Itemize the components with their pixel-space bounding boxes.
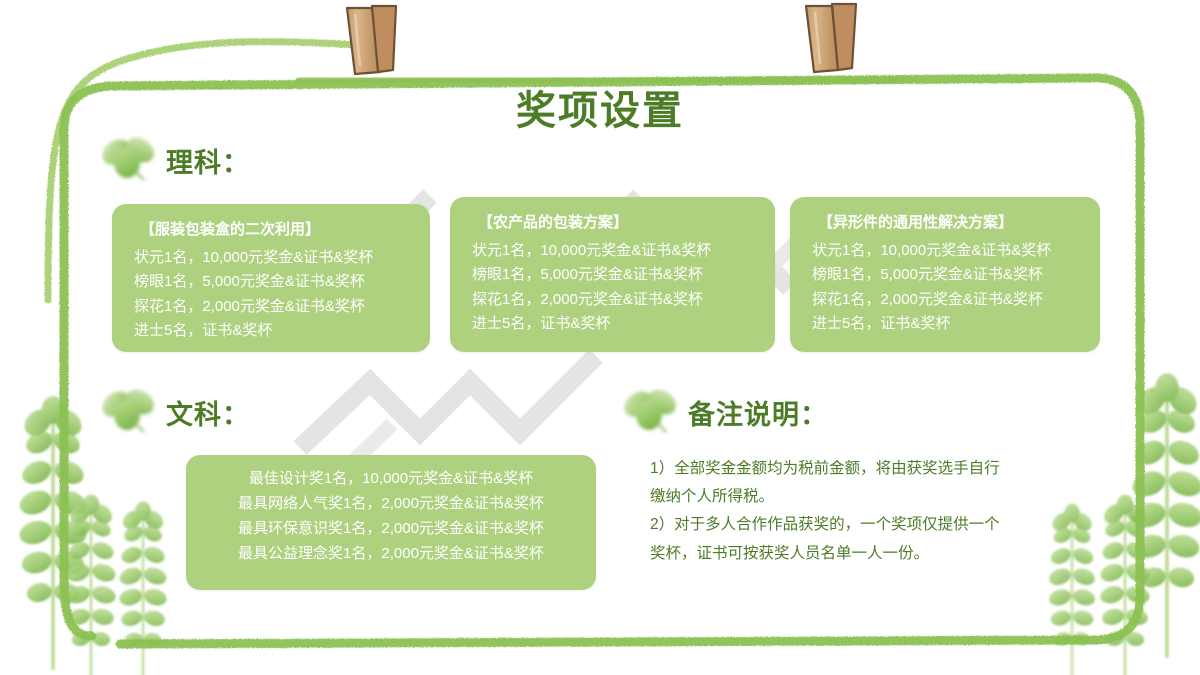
leaf-icon <box>100 136 158 184</box>
card-line: 最具环保意识奖1名，2,000元奖金&证书&奖杯 <box>202 517 580 542</box>
card-line: 进士5名，证书&奖杯 <box>134 319 414 343</box>
notes-block: 1）全部奖金金额均为税前金额，将由获奖选手自行 缴纳个人所得税。 2）对于多人合… <box>650 455 1075 568</box>
leaf-icon <box>622 388 680 436</box>
card-line: 状元1名，10,000元奖金&证书&奖杯 <box>472 239 759 263</box>
card-title: 【农产品的包装方案】 <box>478 211 759 232</box>
leaf-icon <box>100 388 158 436</box>
award-card-irregular-parts: 【异形件的通用性解决方案】 状元1名，10,000元奖金&证书&奖杯 榜眼1名，… <box>790 197 1100 352</box>
section-label-notes: 备注说明： <box>688 393 828 432</box>
card-line: 状元1名，10,000元奖金&证书&奖杯 <box>812 239 1084 263</box>
card-line: 最具网络人气奖1名，2,000元奖金&证书&奖杯 <box>202 492 580 517</box>
section-heading-notes: 备注说明： <box>622 388 828 436</box>
card-line: 探花1名，2,000元奖金&证书&奖杯 <box>472 288 759 312</box>
card-line: 进士5名，证书&奖杯 <box>472 312 759 336</box>
note-line: 奖杯，证书可按获奖人员名单一人一份。 <box>650 540 1075 568</box>
slide-canvas: 奖项设置 理科： 【服装包装盒的二次利用】 状元1名，10,000元奖金&证书&… <box>0 0 1200 675</box>
section-heading-arts: 文科： <box>100 388 250 436</box>
card-line: 榜眼1名，5,000元奖金&证书&奖杯 <box>134 270 414 294</box>
award-card-arts: 最佳设计奖1名，10,000元奖金&证书&奖杯 最具网络人气奖1名，2,000元… <box>186 455 596 590</box>
note-line: 1）全部奖金金额均为税前金额，将由获奖选手自行 <box>650 455 1075 483</box>
section-label-arts: 文科： <box>166 393 250 432</box>
section-label-science: 理科： <box>166 141 250 180</box>
card-line: 榜眼1名，5,000元奖金&证书&奖杯 <box>812 263 1084 287</box>
award-card-agricultural-packaging: 【农产品的包装方案】 状元1名，10,000元奖金&证书&奖杯 榜眼1名，5,0… <box>450 197 775 352</box>
section-heading-science: 理科： <box>100 136 250 184</box>
card-line: 进士5名，证书&奖杯 <box>812 312 1084 336</box>
note-line: 缴纳个人所得税。 <box>650 483 1075 511</box>
card-title: 【服装包装盒的二次利用】 <box>140 218 414 239</box>
card-line: 最具公益理念奖1名，2,000元奖金&证书&奖杯 <box>202 542 580 567</box>
card-line: 最佳设计奖1名，10,000元奖金&证书&奖杯 <box>202 467 580 492</box>
page-title: 奖项设置 <box>0 78 1200 136</box>
card-line: 状元1名，10,000元奖金&证书&奖杯 <box>134 246 414 270</box>
card-line: 探花1名，2,000元奖金&证书&奖杯 <box>812 288 1084 312</box>
card-line: 探花1名，2,000元奖金&证书&奖杯 <box>134 295 414 319</box>
note-line: 2）对于多人合作作品获奖的，一个奖项仅提供一个 <box>650 511 1075 539</box>
award-card-clothing-box: 【服装包装盒的二次利用】 状元1名，10,000元奖金&证书&奖杯 榜眼1名，5… <box>112 204 430 352</box>
card-title: 【异形件的通用性解决方案】 <box>818 211 1084 232</box>
card-line: 榜眼1名，5,000元奖金&证书&奖杯 <box>472 263 759 287</box>
